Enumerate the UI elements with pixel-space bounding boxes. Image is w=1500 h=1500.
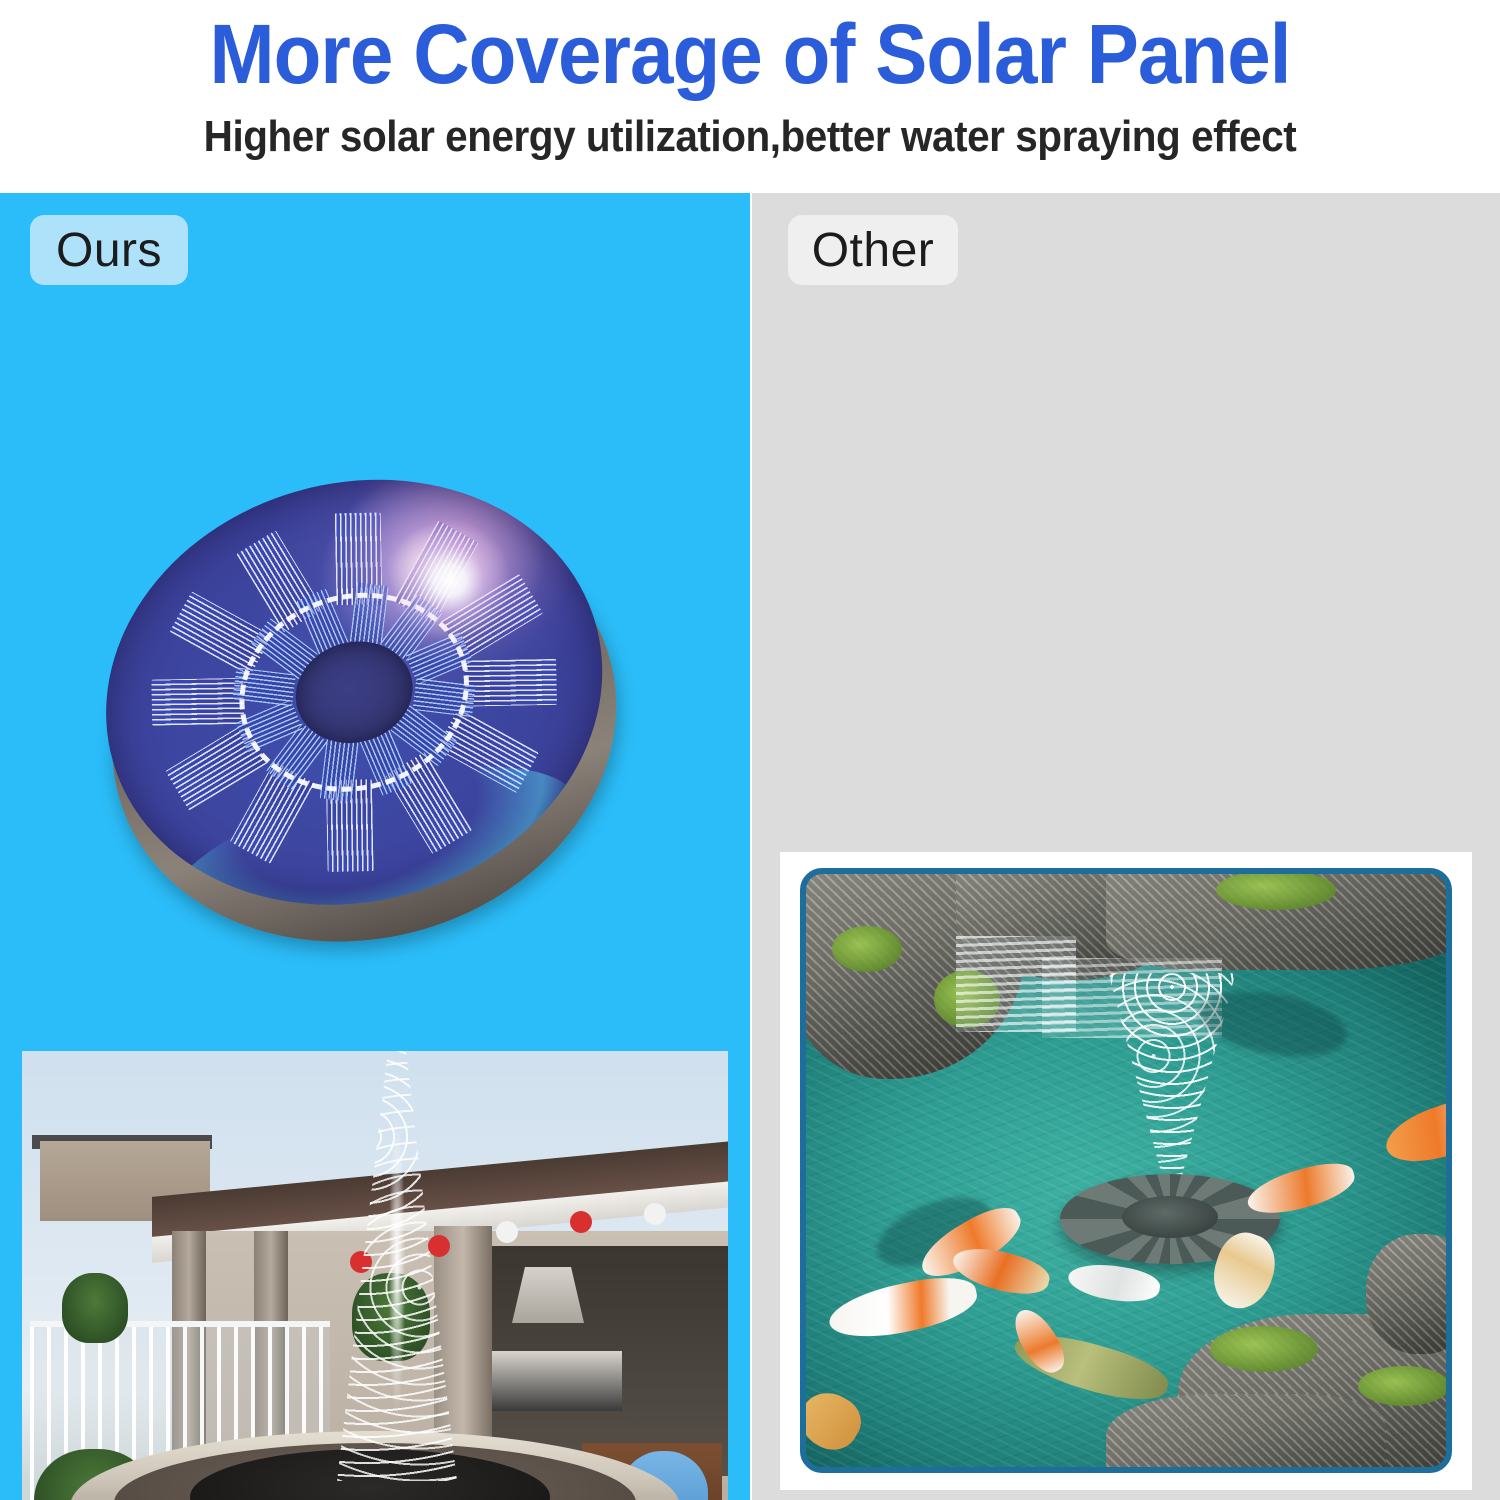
header: More Coverage of Solar Panel Higher sola… xyxy=(0,0,1500,193)
product-image-ours xyxy=(70,448,660,1018)
rock xyxy=(1366,1234,1452,1354)
fountain-hub xyxy=(1122,1196,1218,1238)
comparison-panel-other xyxy=(752,193,1500,1500)
moss xyxy=(832,926,902,972)
lifestyle-photo-pond xyxy=(800,868,1452,1473)
disc-face xyxy=(55,422,653,962)
moss xyxy=(1358,1366,1450,1406)
solar-cell xyxy=(152,678,245,726)
string-lights xyxy=(422,1201,722,1261)
moss xyxy=(1210,1326,1318,1372)
label-badge-other: Other xyxy=(788,215,958,285)
string-light-bulb xyxy=(644,1203,666,1225)
product-comparison-image: More Coverage of Solar Panel Higher sola… xyxy=(0,0,1500,1500)
string-light-bulb xyxy=(428,1235,450,1257)
string-light-bulb xyxy=(496,1221,518,1243)
page-subtitle: Higher solar energy utilization,better w… xyxy=(60,110,1440,164)
comparison-panel-ours xyxy=(0,193,750,1500)
plant xyxy=(62,1273,128,1343)
lifestyle-photo-patio xyxy=(22,1051,728,1500)
label-badge-ours: Ours xyxy=(30,215,188,285)
page-title: More Coverage of Solar Panel xyxy=(53,8,1448,100)
moss xyxy=(1216,870,1336,910)
outdoor-grill xyxy=(492,1351,622,1411)
string-light-bulb xyxy=(570,1211,592,1233)
rock xyxy=(1106,1394,1386,1473)
solar-cell xyxy=(464,659,557,707)
solar-disc-ours xyxy=(50,417,675,1029)
